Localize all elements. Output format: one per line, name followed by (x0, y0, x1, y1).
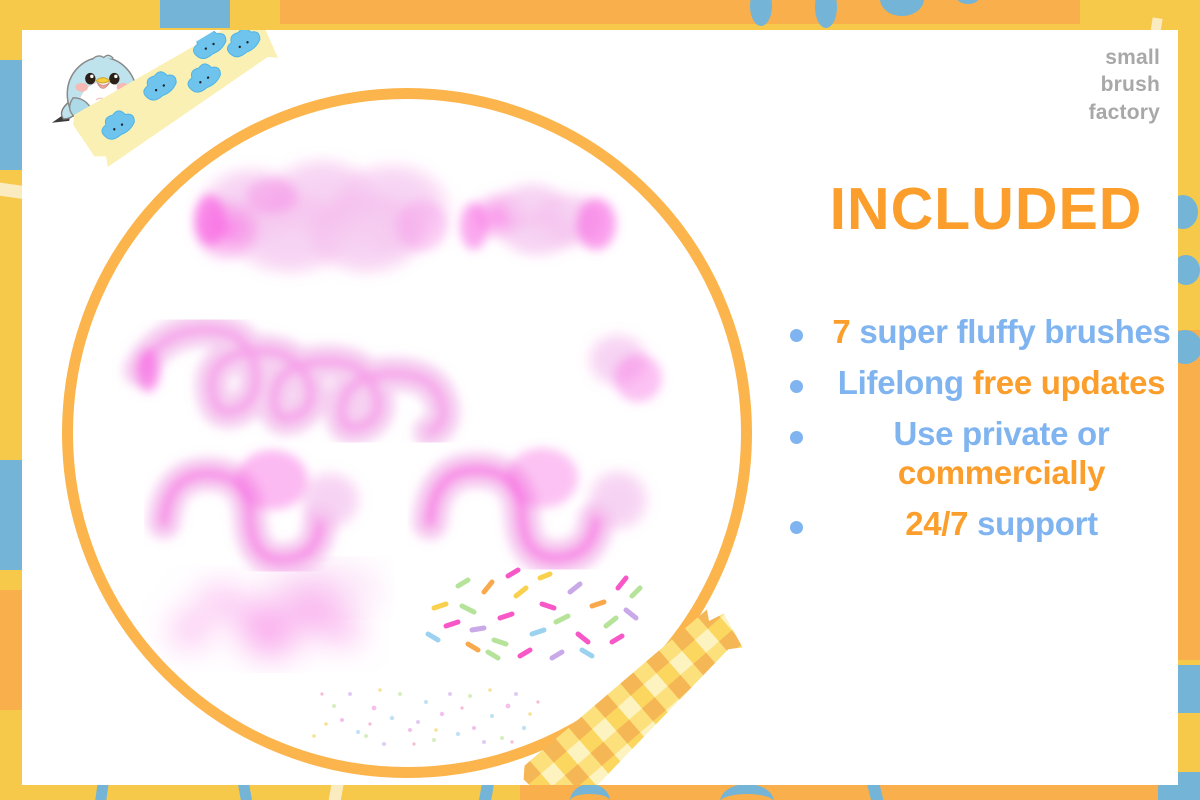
feature-3-part-2: commercially (898, 454, 1105, 491)
list-item: Lifelong free updates (790, 364, 1178, 403)
brush-sample-fluffy-cloud-small (460, 180, 616, 259)
feature-1-part-2: super fluffy brushes (850, 313, 1170, 350)
bg-blob-blue-12 (0, 460, 22, 570)
features-list: 7 super fluffy brushes Lifelong free upd… (790, 313, 1178, 544)
brush-sample-soft-spray-halo (262, 562, 382, 614)
feature-1-part-1: 7 (832, 313, 850, 350)
bullet-dot-icon (790, 329, 803, 342)
poster-card: small brush factory (22, 30, 1178, 785)
feature-4-part-1: 24/7 (905, 505, 968, 542)
bg-shape-orange-top (280, 0, 1080, 24)
bullet-dot-icon (790, 380, 803, 393)
bg-blob-blue-11 (0, 60, 24, 170)
list-item: 24/7 support (790, 505, 1178, 544)
brush-sample-fine-glitter (312, 688, 539, 746)
bullet-dot-icon (790, 521, 803, 534)
brush-sample-fluffy-cloud-large (191, 154, 456, 279)
bg-blob-blue-1 (160, 0, 230, 28)
bullet-dot-icon (790, 431, 803, 444)
brush-sample-zigzag-left (164, 450, 364, 560)
brush-sample-zigzag-right (430, 448, 652, 558)
poster-canvas: small brush factory (0, 0, 1200, 800)
feature-text-3: Use private or commercially (821, 415, 1178, 493)
page-title: INCLUDED (790, 180, 1178, 239)
list-item: 7 super fluffy brushes (790, 313, 1178, 352)
included-panel: INCLUDED 7 super fluffy brushes Lifelong… (790, 180, 1178, 556)
list-item: Use private or commercially (790, 415, 1178, 493)
brush-sample-wavy-spiral (136, 330, 662, 432)
feature-text-2: Lifelong free updates (821, 364, 1178, 403)
feature-2-part-2: free updates (973, 364, 1166, 401)
feature-text-4: 24/7 support (821, 505, 1178, 544)
feature-4-part-2: support (968, 505, 1098, 542)
bg-shape-orange-left (0, 590, 24, 710)
feature-text-1: 7 super fluffy brushes (821, 313, 1178, 352)
feature-3-part-1: Use private or (894, 415, 1110, 452)
brush-sample-confetti-sprinkle (428, 570, 640, 658)
feature-2-part-1: Lifelong (838, 364, 973, 401)
